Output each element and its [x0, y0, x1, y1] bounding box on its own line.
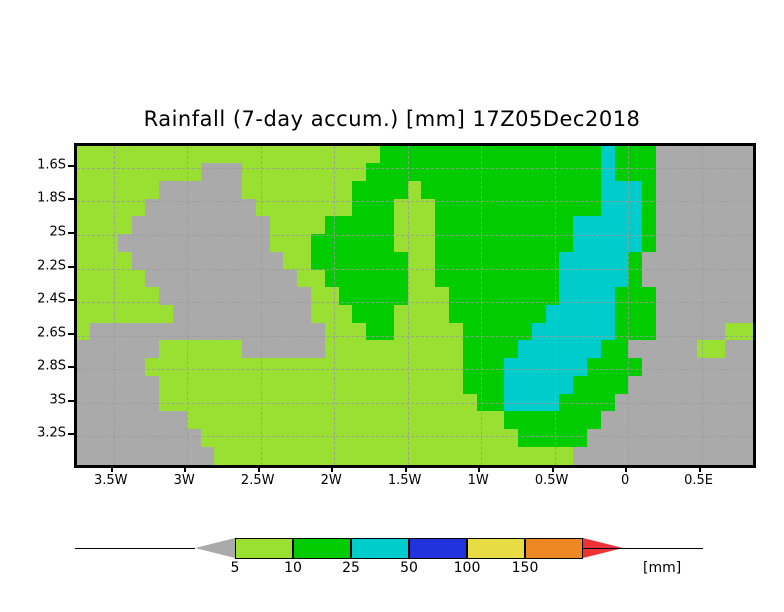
map-cell	[449, 305, 464, 324]
map-cell	[173, 163, 188, 182]
map-cell	[145, 234, 160, 253]
map-cell	[145, 216, 160, 235]
map-cell	[684, 305, 699, 324]
map-cell	[587, 411, 602, 430]
map-cell	[504, 340, 519, 359]
map-cell	[380, 216, 395, 235]
map-cell	[256, 305, 271, 324]
map-cell	[463, 270, 478, 289]
map-cell	[656, 376, 671, 395]
map-cell	[463, 181, 478, 200]
map-cell	[490, 163, 505, 182]
map-cell	[408, 287, 423, 306]
map-cell	[711, 216, 726, 235]
map-cell	[725, 163, 740, 182]
map-cell	[670, 323, 685, 342]
map-cell	[242, 340, 257, 359]
map-cell	[214, 429, 229, 448]
map-cell	[670, 358, 685, 377]
map-cell	[490, 216, 505, 235]
map-cell	[256, 429, 271, 448]
gridline-horizontal	[77, 336, 753, 337]
map-cell	[187, 163, 202, 182]
map-cell	[587, 146, 602, 164]
map-cell	[477, 340, 492, 359]
map-cell	[670, 376, 685, 395]
map-cell	[532, 447, 547, 465]
map-cell	[283, 287, 298, 306]
map-cell	[339, 305, 354, 324]
map-cell	[187, 358, 202, 377]
map-cell	[463, 287, 478, 306]
map-cell	[684, 323, 699, 342]
map-cell	[573, 323, 588, 342]
map-cell	[90, 305, 105, 324]
gridline-vertical	[334, 146, 335, 465]
map-cell	[214, 340, 229, 359]
map-cell	[187, 270, 202, 289]
map-cell	[104, 270, 119, 289]
map-cell	[656, 270, 671, 289]
map-cell	[352, 340, 367, 359]
x-tick-label: 0.5W	[535, 473, 569, 488]
map-cell	[394, 270, 409, 289]
map-cell	[394, 146, 409, 164]
map-cell	[270, 358, 285, 377]
map-cell	[684, 358, 699, 377]
map-cell	[145, 376, 160, 395]
map-cell	[587, 287, 602, 306]
map-cell	[242, 323, 257, 342]
gridline-vertical	[481, 146, 482, 465]
map-cell	[739, 305, 753, 324]
map-cell	[670, 447, 685, 465]
map-cell	[711, 287, 726, 306]
map-cell	[256, 234, 271, 253]
map-cell	[132, 234, 147, 253]
x-tick-label: 2W	[321, 473, 342, 488]
map-cell	[104, 429, 119, 448]
map-cell	[90, 270, 105, 289]
map-cell	[656, 323, 671, 342]
map-cell	[380, 429, 395, 448]
map-cell	[739, 234, 753, 253]
map-cell	[725, 411, 740, 430]
map-cell	[283, 340, 298, 359]
map-cell	[559, 340, 574, 359]
map-cell	[380, 270, 395, 289]
map-cell	[490, 287, 505, 306]
map-cell	[477, 181, 492, 200]
map-cell	[256, 287, 271, 306]
map-cell	[421, 146, 436, 164]
map-cell	[366, 234, 381, 253]
map-cell	[104, 340, 119, 359]
map-cell	[532, 305, 547, 324]
gridline-horizontal	[77, 403, 753, 404]
map-cell	[201, 376, 216, 395]
map-cell	[380, 163, 395, 182]
map-cell	[532, 163, 547, 182]
map-cell	[642, 163, 657, 182]
map-cell	[477, 429, 492, 448]
map-cell	[518, 216, 533, 235]
map-cell	[408, 376, 423, 395]
map-cell	[366, 358, 381, 377]
map-cell	[518, 429, 533, 448]
map-cell	[711, 181, 726, 200]
map-cell	[297, 447, 312, 465]
map-cell	[228, 411, 243, 430]
map-cell	[159, 305, 174, 324]
map-cell	[394, 216, 409, 235]
map-cell	[380, 411, 395, 430]
map-cell	[145, 340, 160, 359]
map-cell	[77, 411, 91, 430]
map-cell	[725, 181, 740, 200]
map-cell	[601, 376, 616, 395]
map-cell	[159, 287, 174, 306]
map-cell	[739, 447, 753, 465]
map-cell	[132, 287, 147, 306]
map-cell	[380, 358, 395, 377]
map-cell	[394, 358, 409, 377]
map-cell	[711, 163, 726, 182]
map-cell	[408, 340, 423, 359]
map-cell	[159, 429, 174, 448]
map-cell	[242, 163, 257, 182]
gridline-vertical	[261, 146, 262, 465]
map-cell	[670, 216, 685, 235]
map-cell	[463, 411, 478, 430]
map-cell	[628, 447, 643, 465]
map-cell	[145, 429, 160, 448]
map-cell	[394, 323, 409, 342]
map-cell	[283, 270, 298, 289]
map-cell	[504, 216, 519, 235]
map-cell	[187, 323, 202, 342]
colorbar-under-arrow	[195, 538, 235, 558]
map-cell	[477, 411, 492, 430]
map-cell	[504, 429, 519, 448]
map-cell	[449, 216, 464, 235]
map-cell	[187, 411, 202, 430]
map-cell	[132, 358, 147, 377]
map-cell	[90, 216, 105, 235]
map-cell	[559, 305, 574, 324]
map-cell	[339, 181, 354, 200]
map-cell	[214, 323, 229, 342]
map-cell	[256, 146, 271, 164]
map-cell	[228, 376, 243, 395]
map-cell	[725, 358, 740, 377]
map-cell	[90, 429, 105, 448]
map-cell	[559, 429, 574, 448]
map-cell	[642, 305, 657, 324]
map-cell	[532, 411, 547, 430]
map-cell	[118, 163, 133, 182]
map-cell	[739, 146, 753, 164]
map-cell	[214, 411, 229, 430]
map-cell	[559, 181, 574, 200]
map-cell	[145, 305, 160, 324]
map-cell	[159, 234, 174, 253]
map-cell	[283, 216, 298, 235]
map-cell	[297, 340, 312, 359]
map-cell	[532, 234, 547, 253]
map-cell	[256, 323, 271, 342]
map-cell	[201, 146, 216, 164]
map-cell	[697, 287, 712, 306]
map-cell	[670, 181, 685, 200]
map-cell	[104, 146, 119, 164]
map-cell	[270, 447, 285, 465]
x-tick-mark	[552, 465, 554, 472]
map-cell	[711, 411, 726, 430]
map-cell	[242, 270, 257, 289]
map-cell	[228, 323, 243, 342]
map-cell	[573, 163, 588, 182]
map-cell	[642, 358, 657, 377]
map-cell	[77, 270, 91, 289]
map-cell	[684, 287, 699, 306]
map-cell	[628, 287, 643, 306]
map-cell	[145, 146, 160, 164]
map-cell	[90, 287, 105, 306]
map-cell	[270, 181, 285, 200]
map-cell	[532, 323, 547, 342]
x-tick-label: 2.5W	[241, 473, 275, 488]
map-cell	[546, 323, 561, 342]
map-cell	[532, 358, 547, 377]
map-cell	[449, 146, 464, 164]
map-cell	[242, 429, 257, 448]
map-cell	[132, 429, 147, 448]
gridline-vertical	[702, 146, 703, 465]
map-cell	[670, 429, 685, 448]
map-cell	[463, 323, 478, 342]
map-cell	[725, 216, 740, 235]
map-cell	[670, 163, 685, 182]
map-cell	[490, 270, 505, 289]
map-cell	[270, 146, 285, 164]
colorbar-tick-label: 150	[512, 560, 539, 576]
map-cell	[642, 447, 657, 465]
gridline-vertical	[408, 146, 409, 465]
map-cell	[725, 146, 740, 164]
map-cell	[656, 358, 671, 377]
map-cell	[601, 163, 616, 182]
map-cell	[408, 181, 423, 200]
map-cell	[77, 305, 91, 324]
map-cell	[256, 411, 271, 430]
map-cell	[173, 376, 188, 395]
map-cell	[339, 429, 354, 448]
map-cell	[477, 358, 492, 377]
map-cell	[546, 270, 561, 289]
map-cell	[325, 411, 340, 430]
map-cell	[145, 447, 160, 465]
map-cell	[214, 216, 229, 235]
map-cell	[145, 270, 160, 289]
map-cell	[449, 163, 464, 182]
map-cell	[228, 447, 243, 465]
map-cell	[587, 429, 602, 448]
map-cell	[201, 181, 216, 200]
map-cell	[325, 376, 340, 395]
map-cell	[325, 146, 340, 164]
x-tick-label: 1.5W	[388, 473, 422, 488]
colorbar-bin	[409, 538, 467, 559]
map-cell	[90, 323, 105, 342]
map-cell	[394, 305, 409, 324]
map-cell	[711, 358, 726, 377]
x-tick-label: 0.5E	[684, 473, 713, 488]
map-cell	[601, 287, 616, 306]
map-cell	[504, 358, 519, 377]
map-cell	[297, 146, 312, 164]
map-cell	[242, 411, 257, 430]
map-cell	[297, 287, 312, 306]
map-cell	[573, 287, 588, 306]
map-cell	[684, 376, 699, 395]
map-cell	[670, 287, 685, 306]
map-cell	[145, 181, 160, 200]
map-cell	[118, 358, 133, 377]
map-cell	[463, 358, 478, 377]
map-cell	[366, 376, 381, 395]
map-cell	[90, 358, 105, 377]
map-cell	[90, 411, 105, 430]
map-cell	[228, 163, 243, 182]
y-tick-label: 3.2S	[37, 426, 66, 441]
map-cell	[601, 305, 616, 324]
map-cell	[283, 447, 298, 465]
map-cell	[132, 447, 147, 465]
map-cell	[145, 287, 160, 306]
map-cell	[394, 340, 409, 359]
gridline-horizontal	[77, 302, 753, 303]
map-cell	[573, 146, 588, 164]
map-cell	[408, 163, 423, 182]
map-cell	[339, 376, 354, 395]
map-cell	[518, 163, 533, 182]
map-cell	[394, 376, 409, 395]
map-cell	[449, 447, 464, 465]
map-cell	[504, 287, 519, 306]
map-cell	[421, 163, 436, 182]
map-cell	[587, 270, 602, 289]
map-cell	[739, 163, 753, 182]
map-cell	[270, 216, 285, 235]
map-cell	[587, 163, 602, 182]
map-cell	[435, 216, 450, 235]
map-cell	[283, 305, 298, 324]
y-axis-ticks: 1.6S1.8S2S2.2S2.4S2.6S2.8S3S3.2S	[0, 143, 66, 462]
map-cell	[518, 287, 533, 306]
map-cell	[256, 447, 271, 465]
map-cell	[159, 358, 174, 377]
map-cell	[711, 234, 726, 253]
map-cell	[173, 146, 188, 164]
map-cell	[656, 181, 671, 200]
colorbar-tick-label: 10	[284, 560, 302, 576]
map-cell	[187, 429, 202, 448]
map-cell	[77, 234, 91, 253]
map-cell	[725, 287, 740, 306]
map-cell	[601, 181, 616, 200]
map-cell	[187, 447, 202, 465]
map-cell	[573, 270, 588, 289]
map-cell	[325, 181, 340, 200]
map-cell	[477, 270, 492, 289]
map-cell	[435, 340, 450, 359]
x-tick-mark	[111, 465, 113, 472]
map-cell	[518, 234, 533, 253]
map-cell	[421, 216, 436, 235]
map-cell	[283, 163, 298, 182]
map-cell	[132, 181, 147, 200]
map-cell	[339, 163, 354, 182]
map-cell	[380, 234, 395, 253]
x-tick-label: 1W	[468, 473, 489, 488]
x-tick-mark	[625, 465, 627, 472]
map-cell	[104, 447, 119, 465]
map-cell	[214, 270, 229, 289]
y-tick-mark	[68, 433, 75, 435]
map-cell	[132, 163, 147, 182]
map-cell	[325, 323, 340, 342]
map-cell	[366, 181, 381, 200]
colorbar-legend: 5102550100150[mm]	[155, 538, 655, 578]
map-cell	[297, 270, 312, 289]
map-cell	[132, 376, 147, 395]
map-cell	[394, 234, 409, 253]
map-cell	[352, 376, 367, 395]
map-cell	[504, 376, 519, 395]
map-cell	[628, 340, 643, 359]
map-cell	[201, 411, 216, 430]
map-cell	[214, 181, 229, 200]
map-cell	[559, 163, 574, 182]
map-cell	[546, 163, 561, 182]
map-cell	[339, 146, 354, 164]
map-cell	[352, 216, 367, 235]
map-cell	[242, 358, 257, 377]
map-cell	[587, 340, 602, 359]
gridline-horizontal	[77, 201, 753, 202]
map-cell	[477, 305, 492, 324]
gridline-horizontal	[77, 436, 753, 437]
map-cell	[739, 181, 753, 200]
map-cell	[518, 376, 533, 395]
map-cell	[256, 216, 271, 235]
map-cell	[518, 146, 533, 164]
map-cell	[159, 411, 174, 430]
map-cell	[546, 305, 561, 324]
map-cell	[366, 340, 381, 359]
map-cell	[104, 411, 119, 430]
map-cell	[325, 358, 340, 377]
map-cell	[270, 234, 285, 253]
gridline-vertical	[628, 146, 629, 465]
map-cell	[380, 287, 395, 306]
map-cell	[421, 181, 436, 200]
gridline-vertical	[555, 146, 556, 465]
map-cell	[311, 287, 326, 306]
map-cell	[477, 234, 492, 253]
map-cell	[104, 287, 119, 306]
